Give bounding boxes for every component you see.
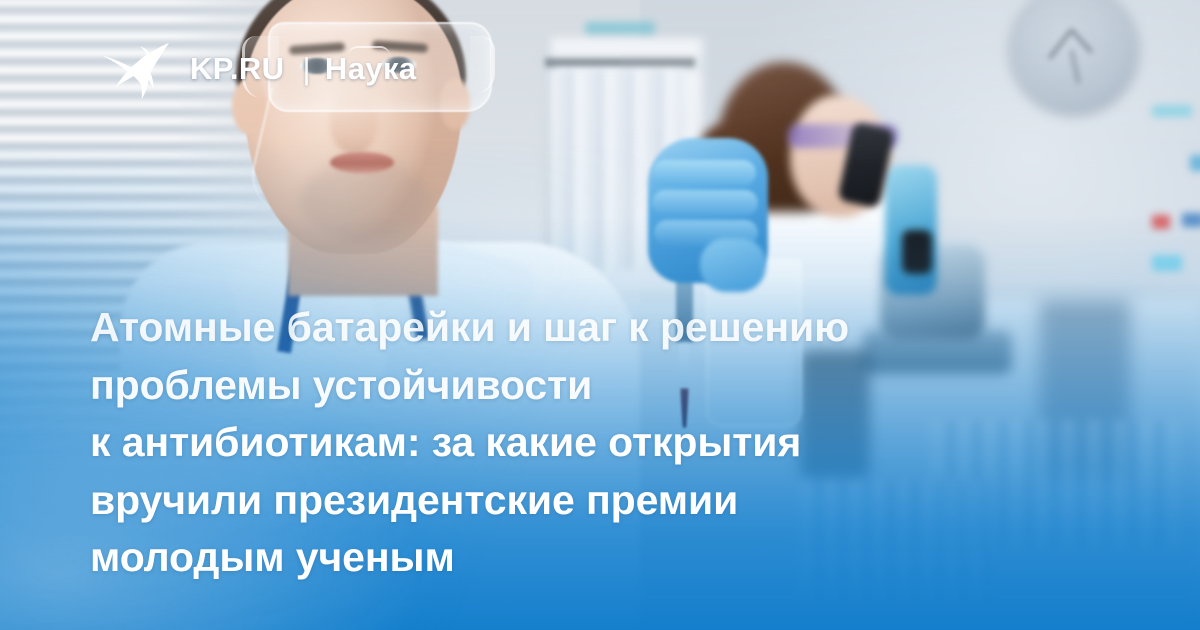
headline-line-1: Атомные батарейки и шаг к решению (90, 299, 1050, 357)
headline-line-5: молодым ученым (90, 529, 1050, 587)
brand-site-name: KP.RU (190, 51, 284, 86)
brand-bar[interactable]: KP.RU|Наука (100, 36, 417, 100)
article-headline: Атомные батарейки и шаг к решению пробле… (90, 299, 1050, 587)
brand-text: KP.RU|Наука (190, 53, 417, 84)
brand-section-label: Наука (325, 51, 417, 86)
headline-line-3: к антибиотикам: за какие открытия (90, 414, 1050, 472)
social-share-card: KP.RU|Наука Атомные батарейки и шаг к ре… (0, 0, 1200, 630)
brand-separator: | (302, 53, 310, 84)
headline-line-2: проблемы устойчивости (90, 357, 1050, 415)
headline-line-4: вручили президентские премии (90, 472, 1050, 530)
swallow-bird-logo-icon[interactable] (100, 36, 172, 100)
